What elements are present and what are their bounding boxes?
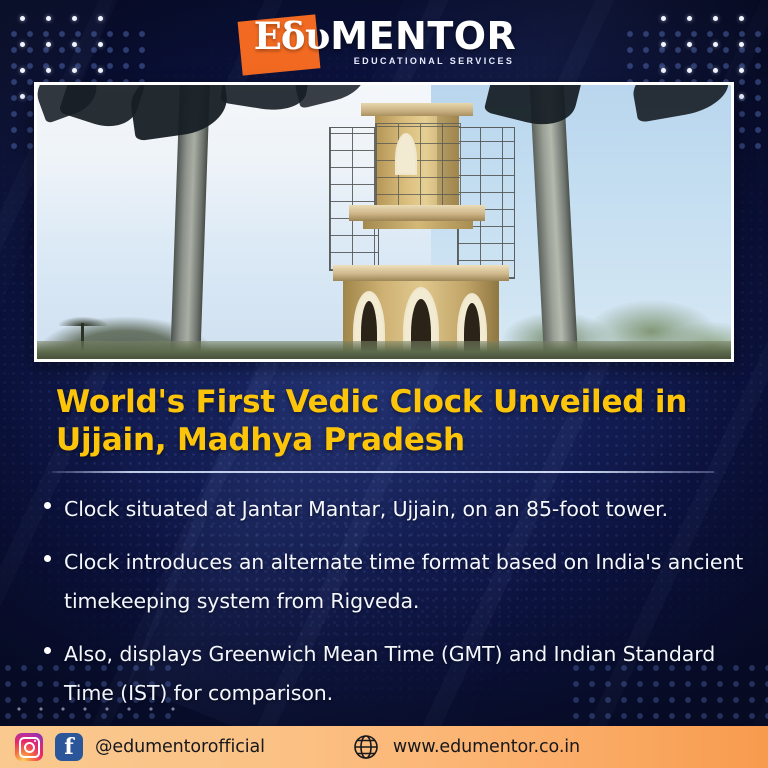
instagram-icon[interactable] (15, 733, 43, 761)
page-title: World's First Vedic Clock Unveiled in Uj… (56, 383, 716, 459)
photo-ground (37, 341, 731, 359)
social-handle[interactable]: @edumentorofficial (95, 737, 265, 757)
photo-tower-cornice-upper (349, 205, 485, 221)
bullet-list: Clock situated at Jantar Mantar, Ujjain,… (44, 490, 744, 727)
hero-photo (34, 82, 734, 362)
list-item: Clock introduces an alternate time forma… (44, 543, 744, 621)
globe-icon (351, 732, 381, 762)
photo-scaffolding-right (457, 127, 515, 279)
footer-website-group: www.edumentor.co.in (351, 732, 580, 762)
footer-dot-texture (8, 698, 178, 724)
bullet-text: Clock situated at Jantar Mantar, Ujjain,… (64, 490, 668, 529)
bullet-dot-icon (44, 502, 51, 509)
website-url[interactable]: www.edumentor.co.in (393, 737, 580, 757)
infographic-poster: Εδυ MENTOR EDUCATIONAL SERVICES (0, 0, 768, 768)
bullet-text: Clock introduces an alternate time forma… (64, 543, 744, 621)
brand-logo: Εδυ MENTOR EDUCATIONAL SERVICES (0, 12, 768, 74)
photo-tower-cornice-middle (333, 265, 509, 281)
facebook-f-glyph: f (64, 736, 73, 758)
photo-small-tree-canopy (59, 317, 107, 326)
footer-social-group: f @edumentorofficial (0, 733, 265, 761)
photo-tower-band (363, 221, 473, 229)
bullet-dot-icon (44, 555, 51, 562)
title-divider (52, 471, 714, 473)
logo-mark-text: Εδυ (252, 14, 330, 58)
photo-scaffolding-middle (375, 123, 461, 213)
footer-bar: f @edumentorofficial www.edumentor.co.in (0, 726, 768, 768)
logo-wordmark: MENTOR (330, 14, 516, 58)
bullet-dot-icon (44, 647, 51, 654)
list-item: Clock situated at Jantar Mantar, Ujjain,… (44, 490, 744, 529)
photo-scaffolding-left (329, 127, 379, 271)
instagram-camera-glyph (19, 737, 40, 758)
photo-tower-top-roof (361, 103, 473, 116)
facebook-icon[interactable]: f (55, 733, 83, 761)
